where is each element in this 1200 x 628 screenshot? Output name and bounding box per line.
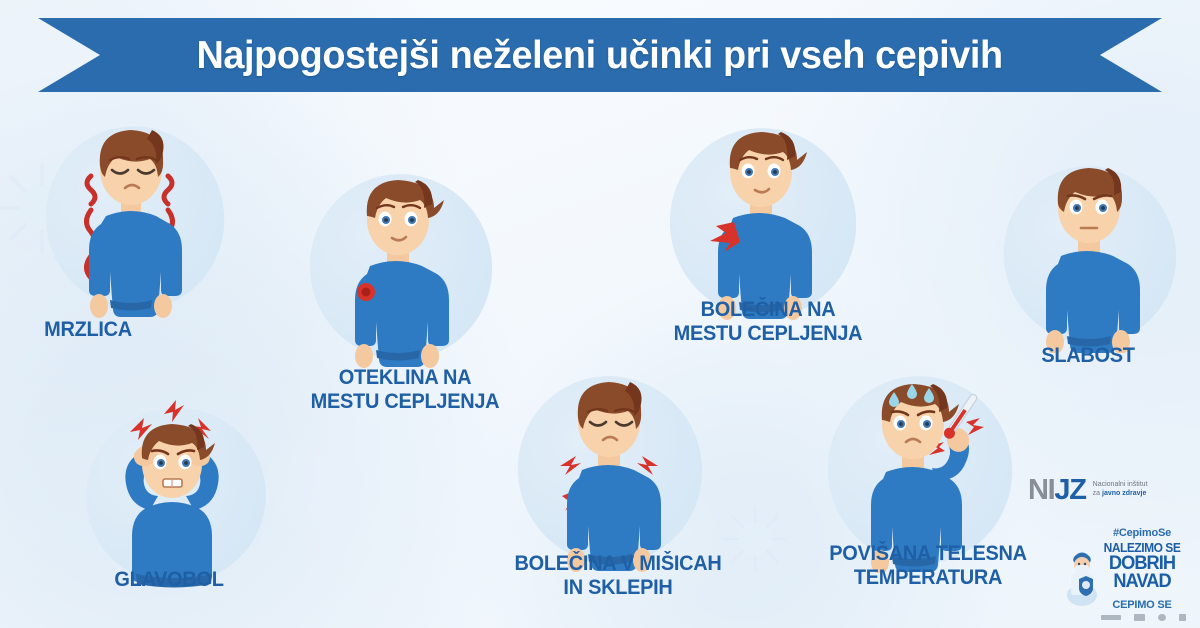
symptom-card-bolecina-mesto: BOLEČINA NA MESTU CEPLJENJA bbox=[648, 118, 888, 358]
swollen-arm-person-icon bbox=[290, 168, 520, 368]
nijz-subtitle-line1: Nacionalni inštitut bbox=[1093, 481, 1148, 488]
weak-tired-person-icon bbox=[988, 158, 1200, 353]
symptom-card-oteklina: OTEKLINA NA MESTU CEPLJENJA bbox=[290, 168, 520, 408]
banner-ribbon: Najpogostejši neželeni učinki pri vseh c… bbox=[38, 18, 1162, 92]
campaign-hashtag: #CepimoSe bbox=[1092, 527, 1192, 539]
nijz-wordmark: NIJZ bbox=[1028, 476, 1086, 505]
partner-logo bbox=[1158, 614, 1166, 621]
nijz-logo: NIJZ Nacionalni inštitut za javno zdravj… bbox=[1028, 472, 1178, 508]
symptom-label-mrzlica: MRZLICA bbox=[0, 318, 197, 342]
symptom-card-mrzlica: MRZLICA bbox=[28, 118, 258, 348]
symptom-card-bolecina-misice: BOLEČINA V MIŠICAH IN SKLEPIH bbox=[498, 368, 738, 608]
symptom-card-slabost: SLABOST bbox=[988, 158, 1200, 388]
campaign-cta: CEPIMO SE bbox=[1092, 599, 1192, 611]
headache-person-icon bbox=[68, 398, 298, 593]
partner-logo-strip bbox=[1094, 613, 1192, 622]
page-title: Najpogostejši neželeni učinki pri vseh c… bbox=[197, 36, 1003, 75]
shoulder-pain-person-icon bbox=[648, 118, 888, 323]
shivering-person-icon bbox=[28, 118, 258, 318]
symptom-label-povisana-temperatura: POVIŠANA TELESNA TEMPERATURA bbox=[786, 542, 1071, 589]
campaign-line3: NAVAD bbox=[1094, 573, 1190, 591]
nijz-ni-text: NI bbox=[1028, 474, 1054, 506]
partner-logo bbox=[1179, 614, 1186, 621]
campaign-badge: #CepimoSe NALEZIMO SE DOBRIH NAVAD CEPIM… bbox=[1066, 527, 1194, 623]
symptom-card-povisana-temperatura: POVIŠANA TELESNA TEMPERATURA bbox=[808, 368, 1048, 608]
symptom-label-glavobol: GLAVOBOL bbox=[60, 568, 279, 592]
symptom-label-bolecina-mesto: BOLEČINA NA MESTU CEPLJENJA bbox=[654, 298, 882, 345]
symptom-label-slabost: SLABOST bbox=[984, 344, 1193, 368]
partner-logo bbox=[1134, 614, 1145, 621]
nijz-subtitle: Nacionalni inštitut za javno zdravje bbox=[1093, 481, 1148, 499]
campaign-slogan: NALEZIMO SE DOBRIH NAVAD bbox=[1092, 542, 1192, 591]
nijz-jz-text: JZ bbox=[1054, 474, 1085, 506]
symptom-card-glavobol: GLAVOBOL bbox=[68, 398, 298, 618]
symptom-label-bolecina-misice: BOLEČINA V MIŠICAH IN SKLEPIH bbox=[461, 552, 775, 599]
symptom-label-oteklina: OTEKLINA NA MESTU CEPLJENJA bbox=[291, 366, 519, 413]
muscle-joint-pain-person-icon bbox=[498, 368, 738, 573]
partner-logo bbox=[1101, 615, 1121, 620]
nijz-subtitle-bold: javno zdravje bbox=[1102, 490, 1146, 497]
nijz-subtitle-prefix: za bbox=[1093, 490, 1102, 497]
infographic-poster: Najpogostejši neželeni učinki pri vseh c… bbox=[0, 0, 1200, 628]
